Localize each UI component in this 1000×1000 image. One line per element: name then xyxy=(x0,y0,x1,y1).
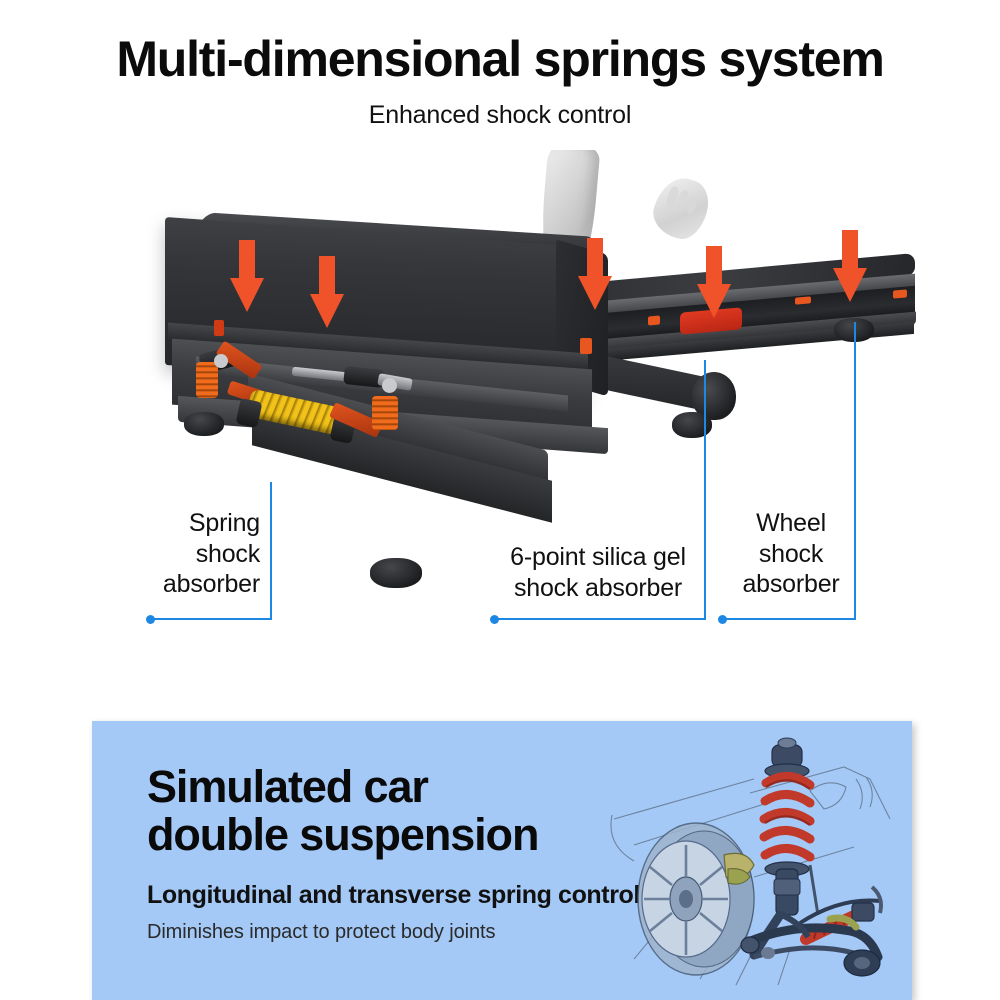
callout-label-spring-shock-absorber: Spring shock absorber xyxy=(110,508,260,600)
panel-title-line-1: Simulated car xyxy=(147,763,667,811)
callout-line: absorber xyxy=(110,569,260,600)
orange-accent-chip xyxy=(893,289,907,298)
callout-dot-wheel xyxy=(718,615,727,624)
callout-dot-spring xyxy=(146,615,155,624)
front-foot-pad xyxy=(370,558,422,588)
callout-leader-line-silica-vertical xyxy=(704,360,706,618)
callout-leader-line-spring-vertical xyxy=(270,482,272,620)
suspension-feature-panel: Simulated car double suspension Longitud… xyxy=(92,721,912,1000)
panel-title-line-2: double suspension xyxy=(147,811,667,859)
pressure-arrow-3 xyxy=(578,238,612,310)
pressure-arrow-5 xyxy=(833,230,867,302)
pivot-bolt xyxy=(382,378,397,393)
mid-foot-pad xyxy=(672,412,712,438)
callout-line: Wheel xyxy=(726,508,856,539)
pressure-arrow-2 xyxy=(310,256,344,328)
callout-label-wheel-shock-absorber: Wheel shock absorber xyxy=(726,508,856,600)
page-subtitle: Enhanced shock control xyxy=(0,101,1000,130)
callout-line: 6-point silica gel xyxy=(500,542,696,573)
callout-dot-silica xyxy=(490,615,499,624)
callout-line: shock absorber xyxy=(500,573,696,604)
callout-line: Spring xyxy=(110,508,260,539)
callout-line: absorber xyxy=(726,569,856,600)
pressure-arrow-4 xyxy=(697,246,731,318)
orange-coil-right xyxy=(372,396,398,430)
orange-coil-left xyxy=(196,362,218,398)
orange-accent-chip xyxy=(648,315,660,325)
callout-leader-line-spring-horizontal xyxy=(150,618,272,620)
panel-subtitle: Longitudinal and transverse spring contr… xyxy=(147,881,640,910)
callout-leader-line-silica-horizontal xyxy=(494,618,706,620)
callout-line: shock xyxy=(726,539,856,570)
callout-leader-line-wheel-horizontal xyxy=(722,618,856,620)
panel-title: Simulated car double suspension xyxy=(147,763,667,858)
pivot-bolt xyxy=(214,354,228,368)
red-indicator-chip xyxy=(214,320,224,336)
orange-accent-chip xyxy=(795,296,811,304)
callout-line: shock xyxy=(110,539,260,570)
pressure-arrow-1 xyxy=(230,240,264,312)
orange-accent-chip xyxy=(580,338,592,354)
left-foot-pad xyxy=(184,412,224,436)
callout-label-silica-gel-shock-absorber: 6-point silica gel shock absorber xyxy=(500,542,696,603)
page-title: Multi-dimensional springs system xyxy=(0,33,1000,86)
product-feature-page: Multi-dimensional springs system Enhance… xyxy=(0,0,1000,1000)
car-suspension-illustration xyxy=(604,727,904,997)
panel-note: Diminishes impact to protect body joints xyxy=(147,921,495,944)
